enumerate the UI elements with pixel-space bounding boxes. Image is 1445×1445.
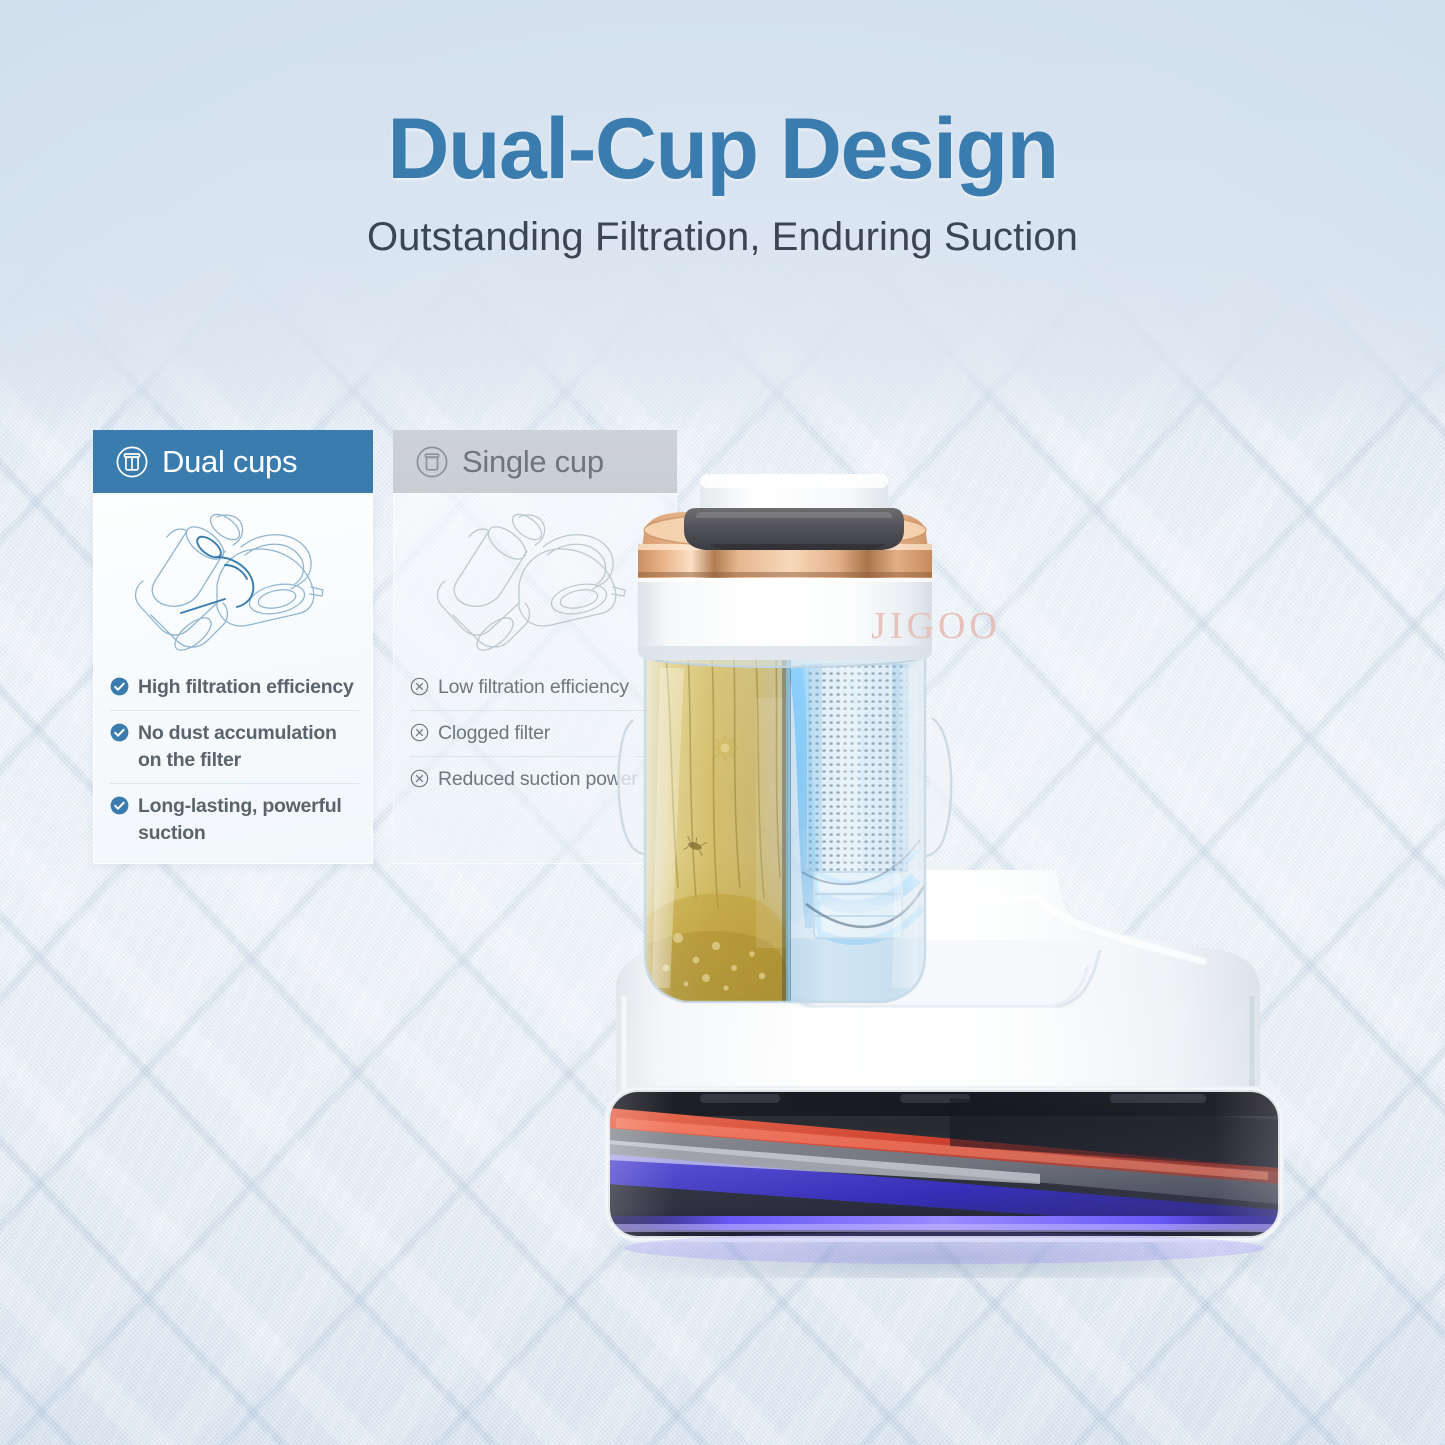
dual-cup-icon — [115, 445, 149, 479]
top-pad-assembly — [684, 474, 904, 550]
page-title: Dual-Cup Design — [0, 106, 1445, 192]
cross-circle-icon — [410, 677, 429, 696]
dual-cups-illustration — [94, 503, 372, 653]
dual-cups-card-title: Dual cups — [162, 444, 297, 480]
cross-circle-icon — [410, 723, 429, 742]
check-circle-icon — [110, 796, 129, 815]
single-cup-icon — [415, 445, 449, 479]
dual-cups-card-header: Dual cups — [93, 430, 373, 493]
list-item: No dust accumulation on the filter — [110, 710, 359, 783]
dual-cups-card-body: High filtration efficiency No dust accum… — [93, 493, 373, 864]
dual-cups-card: Dual cups — [93, 430, 373, 864]
brand-logo: JIGOO — [831, 604, 1041, 648]
page-subtitle: Outstanding Filtration, Enduring Suction — [0, 214, 1445, 260]
vacuum-cleaner-render — [520, 468, 1350, 1278]
list-item: Long-lasting, powerful suction — [110, 783, 359, 856]
list-item: High filtration efficiency — [110, 665, 359, 710]
uv-roller-brush — [604, 1086, 1284, 1264]
product-image: JIGOO — [520, 468, 1350, 1278]
dual-cups-feature-list: High filtration efficiency No dust accum… — [110, 665, 359, 856]
cross-circle-icon — [410, 769, 429, 788]
list-item-label: No dust accumulation on the filter — [138, 720, 359, 774]
list-item-label: High filtration efficiency — [138, 674, 354, 701]
check-circle-icon — [110, 723, 129, 742]
list-item-label: Long-lasting, powerful suction — [138, 793, 359, 847]
check-circle-icon — [110, 677, 129, 696]
dual-cup-chamber — [619, 645, 952, 1002]
